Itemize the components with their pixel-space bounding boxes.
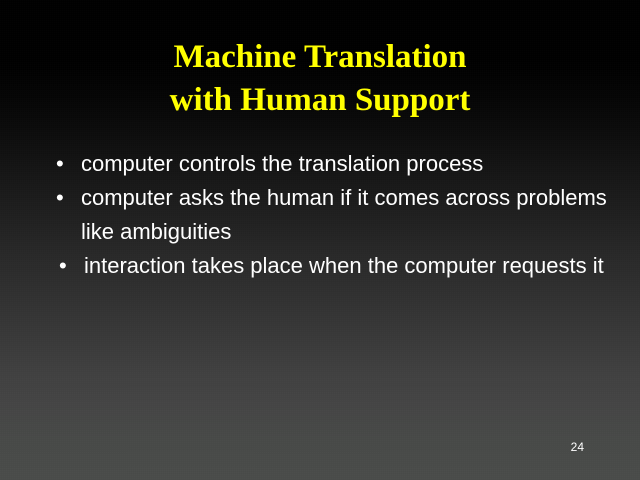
slide-canvas: Machine Translation with Human Support •… [0, 0, 640, 480]
bullet-marker-icon: • [56, 181, 68, 215]
list-item-text: interaction takes place when the compute… [84, 249, 608, 283]
list-item-text: computer controls the translation proces… [81, 147, 608, 181]
list-item: • computer controls the translation proc… [52, 147, 608, 181]
page-number: 24 [571, 440, 584, 454]
list-item-text: computer asks the human if it comes acro… [81, 181, 608, 249]
list-item: • interaction takes place when the compu… [55, 249, 608, 283]
slide-title-line-2: with Human Support [0, 79, 640, 122]
bullet-marker-icon: • [59, 249, 71, 283]
slide-title: Machine Translation with Human Support [0, 36, 640, 122]
bullet-list: • computer controls the translation proc… [52, 147, 608, 283]
list-item: • computer asks the human if it comes ac… [52, 181, 608, 249]
bullet-marker-icon: • [56, 147, 68, 181]
slide-title-line-1: Machine Translation [0, 36, 640, 79]
